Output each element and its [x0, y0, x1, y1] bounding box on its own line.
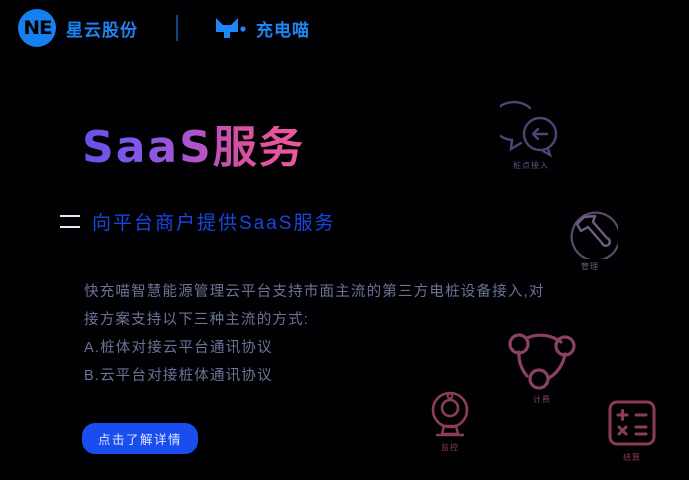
logo-monogram-text: NE [23, 19, 51, 38]
decor-label: 管理 [581, 261, 599, 272]
brand-secondary[interactable]: 充电喵 [214, 16, 310, 41]
page-subtitle: 向平台商户提供SaaS服务 [92, 208, 335, 235]
decor-label: 结算 [623, 452, 641, 463]
cat-face-logo [214, 16, 248, 40]
decor-label: 监控 [441, 442, 459, 453]
brand-secondary-name: 充电喵 [256, 16, 310, 41]
slide-canvas: NE 星云股份 充电喵 SaaS服务 向平台商户提供SaaS服务 快充喵智慧能源… [0, 0, 689, 480]
hamburger-menu-icon [60, 215, 80, 228]
decor-network-nodes: 计费 [503, 322, 581, 405]
brand-primary[interactable]: NE 星云股份 [18, 9, 138, 47]
decor-calculator: 结算 [605, 398, 659, 463]
monitor-camera-icon [424, 388, 476, 440]
page-title: SaaS服务 [82, 126, 305, 170]
decor-wrench: 管理 [562, 205, 618, 272]
network-nodes-icon [503, 322, 581, 392]
wrench-icon [562, 205, 618, 259]
decor-monitor-camera: 监控 [424, 388, 476, 453]
calculator-icon [605, 398, 659, 450]
subtitle-row: 向平台商户提供SaaS服务 [60, 208, 335, 235]
vertical-divider [176, 15, 178, 41]
chat-bubbles-icon [500, 100, 562, 158]
brand-primary-name: 星云股份 [66, 16, 138, 41]
decor-chat-bubbles: 桩点接入 [500, 100, 562, 171]
circle-monogram-logo: NE [18, 9, 56, 47]
decor-label: 计费 [533, 394, 551, 405]
header-bar: NE 星云股份 充电喵 [0, 0, 689, 56]
body-line: 快充喵智慧能源管理云平台支持市面主流的第三方电桩设备接入,对 [84, 278, 584, 306]
learn-more-button[interactable]: 点击了解详情 [82, 423, 198, 454]
decor-label: 桩点接入 [513, 160, 549, 171]
